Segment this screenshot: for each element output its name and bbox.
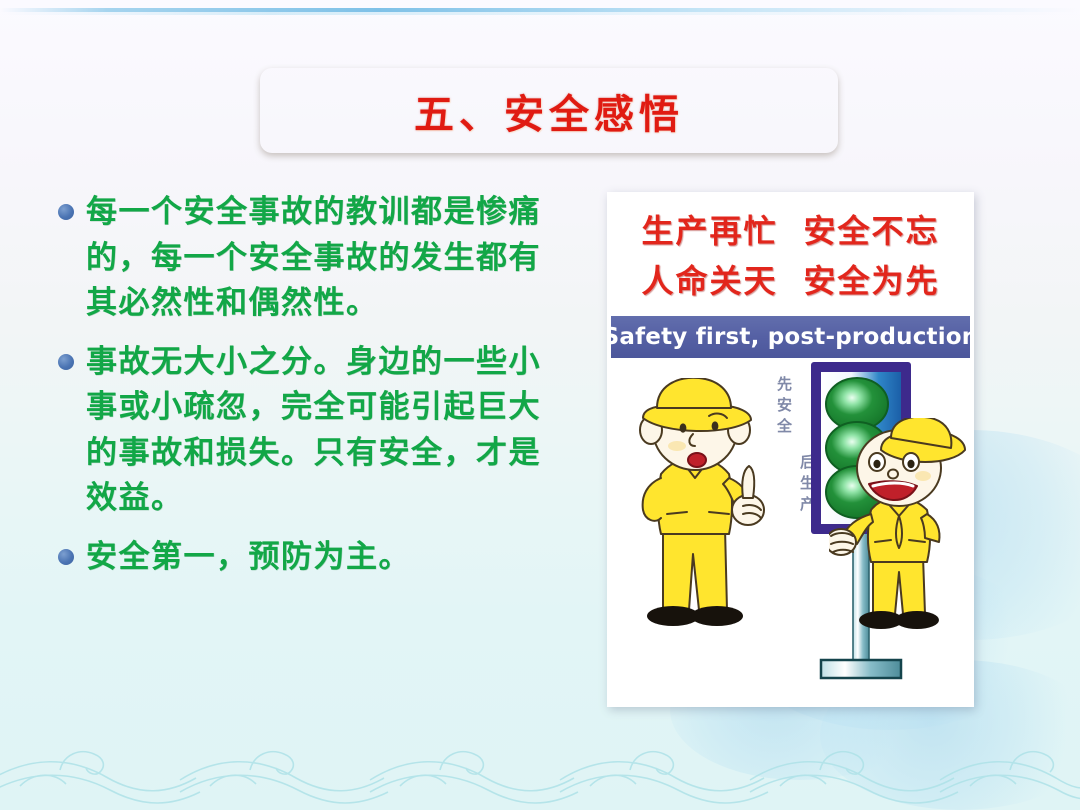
list-item: 事故无大小之分。身边的一些小事或小疏忽，完全可能引起巨大的事故和损失。只有安全，… [58, 340, 558, 522]
cartoon-child-holding-pole [829, 418, 974, 650]
poster-slogan-block: 生产再忙 安全不忘 人命关天 安全为先 [607, 198, 974, 310]
bullet-text: 安全第一，预防为主。 [86, 535, 411, 581]
cartoon-worker-pointing [617, 378, 779, 646]
bullet-dot-icon [58, 354, 74, 370]
slide-root: 五、安全感悟 每一个安全事故的教训都是惨痛的，每一个安全事故的发生都有其必然性和… [0, 0, 1080, 810]
bullet-text: 事故无大小之分。身边的一些小事或小疏忽，完全可能引起巨大的事故和损失。只有安全，… [86, 340, 558, 522]
top-stripe-decoration-secondary [0, 12, 1080, 15]
poster-band-text: Safety first, post-production [607, 324, 974, 350]
slogan-text-left: 人命关天 [641, 256, 777, 302]
bullet-text: 每一个安全事故的教训都是惨痛的，每一个安全事故的发生都有其必然性和偶然性。 [86, 190, 558, 327]
bullet-list: 每一个安全事故的教训都是惨痛的，每一个安全事故的发生都有其必然性和偶然性。 事故… [58, 190, 558, 594]
slogan-line: 生产再忙 安全不忘 [641, 206, 939, 252]
title-banner: 五、安全感悟 [260, 68, 838, 153]
bullet-dot-icon [58, 549, 74, 565]
slogan-text-left: 生产再忙 [641, 206, 777, 252]
list-item: 安全第一，预防为主。 [58, 535, 558, 581]
poster-illustration: 先安全 后生产 [611, 362, 970, 700]
safety-poster: 生产再忙 安全不忘 人命关天 安全为先 Safety first, post-p… [607, 192, 974, 707]
list-item: 每一个安全事故的教训都是惨痛的，每一个安全事故的发生都有其必然性和偶然性。 [58, 190, 558, 327]
poster-english-band: Safety first, post-production [611, 316, 970, 358]
slogan-text-right: 安全不忘 [804, 206, 940, 252]
slogan-line: 人命关天 安全为先 [641, 256, 939, 302]
bullet-dot-icon [58, 204, 74, 220]
page-title: 五、安全感悟 [414, 82, 684, 140]
slogan-text-right: 安全为先 [804, 256, 940, 302]
